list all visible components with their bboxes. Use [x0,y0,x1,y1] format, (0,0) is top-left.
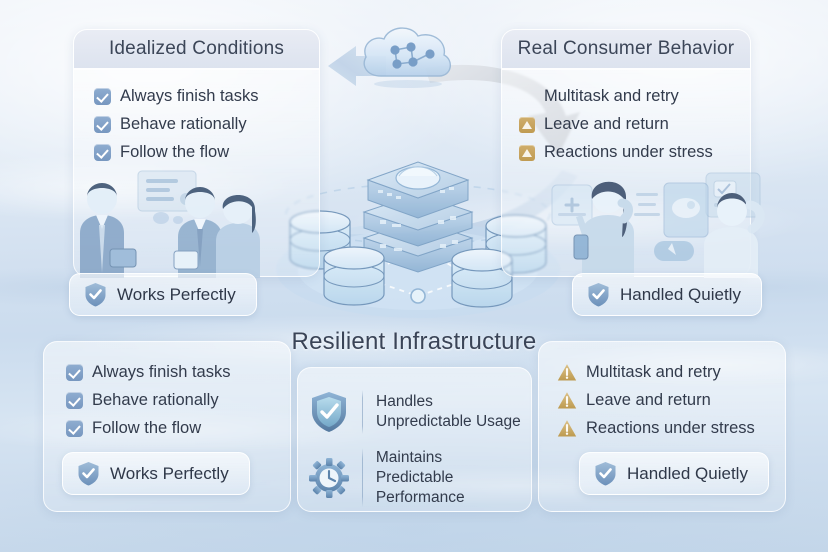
list-item-label: Leave and return [544,115,669,134]
checkbox-icon[interactable] [66,420,83,437]
list-item[interactable]: Behave rationally [66,388,290,413]
feature-line1: Handles [376,393,433,410]
works-perfectly-badge-bottom[interactable]: Works Perfectly [62,452,250,495]
badge-label: Works Perfectly [117,285,236,305]
checkbox-icon[interactable] [66,392,83,409]
list-item[interactable]: Follow the flow [94,140,319,165]
works-perfectly-badge-top[interactable]: Works Perfectly [69,273,257,316]
handled-quietly-badge-top[interactable]: Handled Quietly [572,273,762,316]
shield-check-icon [84,282,107,307]
list-item-label: Follow the flow [92,419,201,438]
shield-check-icon [587,282,610,307]
list-item-label: Always finish tasks [120,87,258,106]
list-item[interactable]: Multitask and retry [519,84,750,109]
feature-maintains[interactable]: Maintains Predictable Performance [306,448,521,507]
list-item-label: Reactions under stress [586,419,755,438]
list-item[interactable]: Leave and return [557,388,785,413]
warning-triangle-icon[interactable] [519,117,535,133]
list-item-label: Behave rationally [120,115,247,134]
checkbox-icon[interactable] [94,116,111,133]
list-item[interactable]: Reactions under stress [519,140,750,165]
feature-text: Maintains Predictable Performance [376,448,521,507]
list-item[interactable]: Always finish tasks [66,360,290,385]
warning-triangle-icon[interactable] [519,145,535,161]
stressed-consumers-illustration [546,163,776,278]
shield-check-icon [594,461,617,486]
card-header-idealized: Idealized Conditions [74,30,319,70]
bottom-left-panel: Always finish tasks Behave rationally Fo… [43,341,291,512]
shield-check-icon [77,461,100,486]
badge-label: Handled Quietly [627,464,748,484]
divider [362,390,363,434]
feature-list: Handles Unpredictable Usage [298,368,531,507]
list-item[interactable]: Multitask and retry [557,360,785,385]
list-item-label: Multitask and retry [544,87,679,106]
list-item[interactable]: Follow the flow [66,416,290,441]
feature-line1: Maintains [376,449,442,466]
bottom-left-list: Always finish tasks Behave rationally Fo… [44,342,290,441]
cloud-network-icon [353,18,463,90]
warning-triangle-icon[interactable] [557,363,577,382]
three-business-people-illustration [66,163,266,278]
list-item[interactable]: Behave rationally [94,112,319,137]
bottom-right-list: Multitask and retry Leave and return Rea… [539,342,785,441]
checkbox-icon[interactable] [66,364,83,381]
bottom-center-panel: Handles Unpredictable Usage [297,367,532,512]
list-item[interactable]: Always finish tasks [94,84,319,109]
list-item-label: Always finish tasks [92,363,230,382]
list-item-label: Multitask and retry [586,363,721,382]
list-item-label: Reactions under stress [544,143,713,162]
feature-text: Handles Unpredictable Usage [376,392,521,432]
card-header-real: Real Consumer Behavior [502,30,750,70]
gear-clock-icon [306,457,352,499]
divider [362,448,363,507]
list-item-label: Behave rationally [92,391,219,410]
badge-label: Handled Quietly [620,285,741,305]
list-item-label: Leave and return [586,391,711,410]
infographic-canvas: Idealized Conditions Always finish tasks… [0,0,828,552]
checkbox-icon[interactable] [94,88,111,105]
feature-handles[interactable]: Handles Unpredictable Usage [306,390,521,434]
page-title-real: Real Consumer Behavior [518,38,735,60]
page-title-idealized: Idealized Conditions [109,38,284,60]
shield-check-icon [306,390,352,434]
feature-line2: Unpredictable Usage [376,413,521,430]
list-item[interactable]: Leave and return [519,112,750,137]
checkbox-icon[interactable] [94,144,111,161]
list-item[interactable]: Reactions under stress [557,416,785,441]
warning-triangle-icon[interactable] [557,419,577,438]
feature-line2: Predictable Performance [376,469,465,506]
idealized-list: Always finish tasks Behave rationally Fo… [74,70,319,165]
warning-triangle-icon[interactable] [557,391,577,410]
badge-label: Works Perfectly [110,464,229,484]
list-item-label: Follow the flow [120,143,229,162]
bottom-right-panel: Multitask and retry Leave and return Rea… [538,341,786,512]
handled-quietly-badge-bottom[interactable]: Handled Quietly [579,452,769,495]
real-behavior-list: Multitask and retry Leave and return Rea… [502,70,750,165]
